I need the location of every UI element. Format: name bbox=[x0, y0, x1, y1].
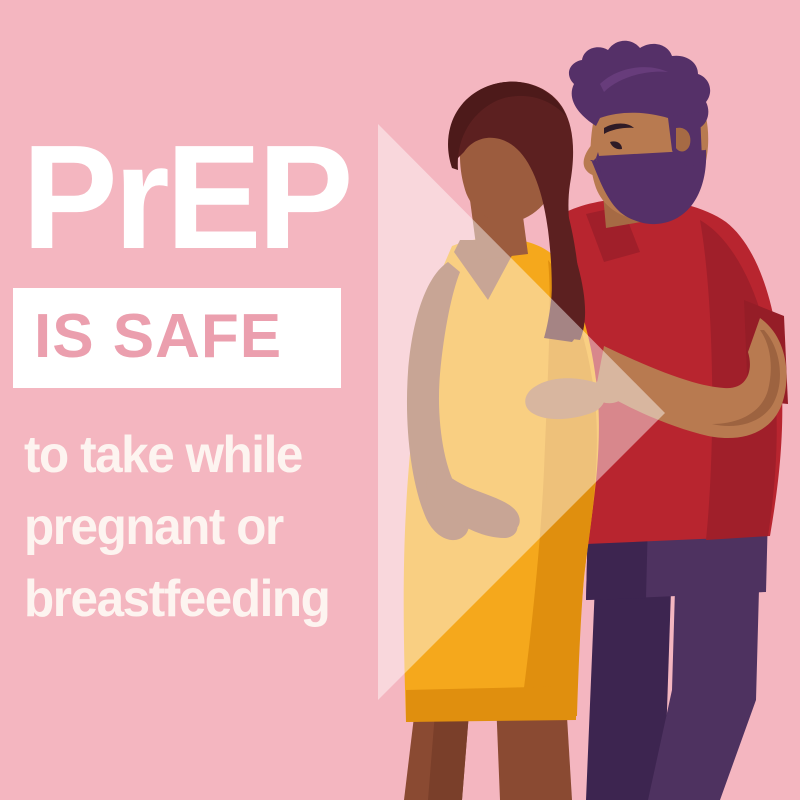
woman-dress-hem bbox=[406, 686, 576, 722]
illustration-artwork bbox=[0, 0, 800, 800]
poster-canvas: PrEP IS SAFE to take while pregnant or b… bbox=[0, 0, 800, 800]
